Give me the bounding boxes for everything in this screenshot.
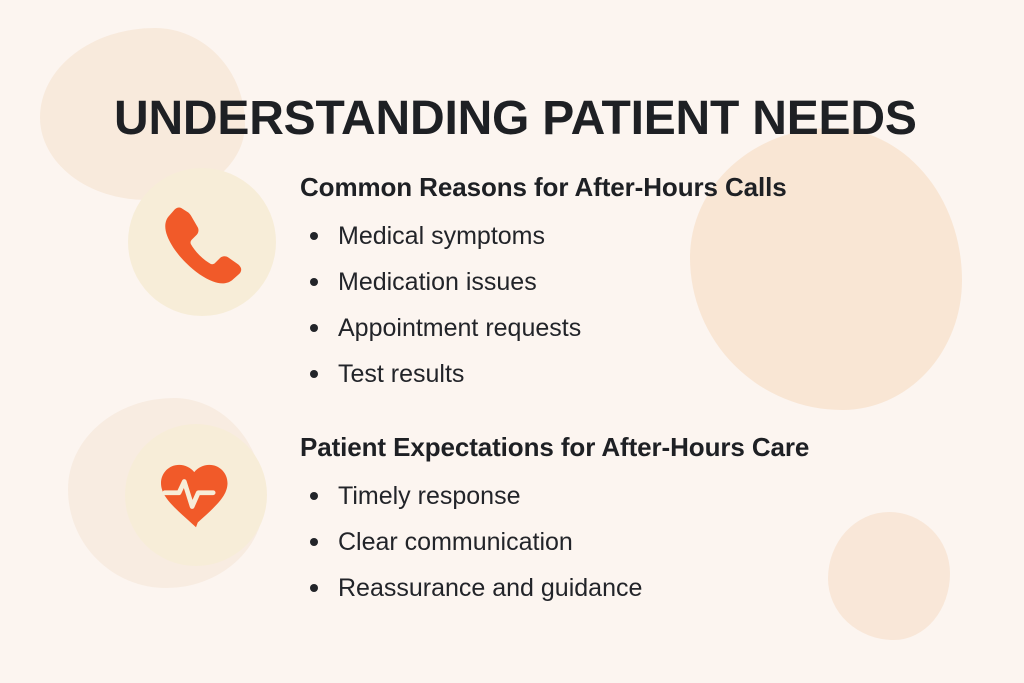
- list-item: Medical symptoms: [300, 213, 787, 259]
- bullet-dot-icon: [310, 370, 318, 378]
- list-item: Clear communication: [300, 519, 809, 565]
- bullet-list: Medical symptoms Medication issues Appoi…: [300, 213, 787, 397]
- list-item-label: Clear communication: [338, 528, 573, 556]
- list-item: Reassurance and guidance: [300, 565, 809, 611]
- bullet-dot-icon: [310, 538, 318, 546]
- bullet-dot-icon: [310, 584, 318, 592]
- bullet-dot-icon: [310, 278, 318, 286]
- page-title: UNDERSTANDING PATIENT NEEDS: [114, 93, 914, 145]
- heart-icon-badge: [125, 424, 267, 566]
- list-item: Test results: [300, 351, 787, 397]
- section-patient-expectations: Patient Expectations for After-Hours Car…: [300, 432, 809, 611]
- decorative-blob-bottom-right: [828, 512, 950, 640]
- bullet-list: Timely response Clear communication Reas…: [300, 473, 809, 611]
- list-item-label: Medical symptoms: [338, 222, 545, 250]
- section-heading: Patient Expectations for After-Hours Car…: [300, 432, 809, 463]
- bullet-dot-icon: [310, 324, 318, 332]
- heart-pulse-icon: [154, 453, 238, 537]
- bullet-dot-icon: [310, 492, 318, 500]
- list-item: Timely response: [300, 473, 809, 519]
- list-item-label: Medication issues: [338, 268, 537, 296]
- list-item-label: Appointment requests: [338, 314, 581, 342]
- phone-icon-badge: [128, 168, 276, 316]
- list-item: Appointment requests: [300, 305, 787, 351]
- bullet-dot-icon: [310, 232, 318, 240]
- list-item-label: Timely response: [338, 482, 520, 510]
- section-common-reasons: Common Reasons for After-Hours Calls Med…: [300, 172, 787, 397]
- phone-icon: [159, 199, 245, 285]
- list-item: Medication issues: [300, 259, 787, 305]
- section-heading: Common Reasons for After-Hours Calls: [300, 172, 787, 203]
- list-item-label: Reassurance and guidance: [338, 574, 642, 602]
- infographic-canvas: UNDERSTANDING PATIENT NEEDS Common Reaso…: [0, 0, 1024, 683]
- list-item-label: Test results: [338, 360, 464, 388]
